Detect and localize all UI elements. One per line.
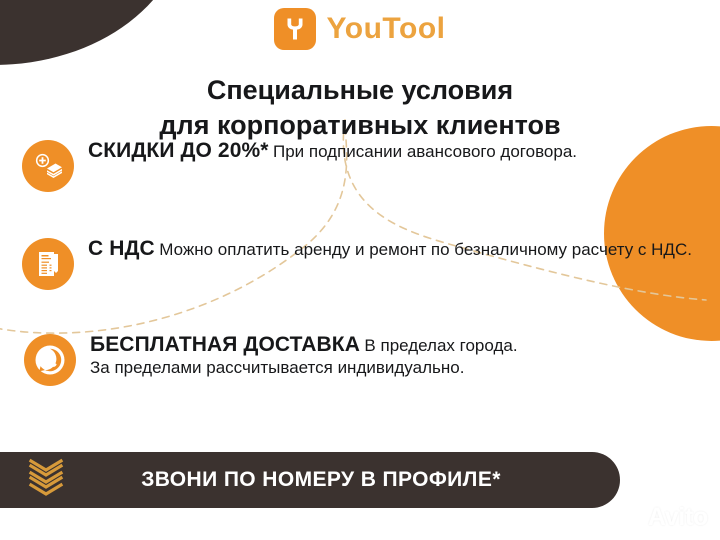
brand-name: YouTool	[326, 12, 445, 46]
benefit-discounts-text: СКИДКИ ДО 20%* При подписании авансового…	[88, 138, 577, 163]
avito-dots-icon	[621, 504, 643, 531]
benefit-vat-text: С НДС Можно оплатить аренду и ремонт по …	[88, 236, 692, 261]
decorative-orange-circle	[604, 126, 720, 341]
youtool-wrench-icon	[274, 8, 316, 50]
avito-watermark: Avito	[621, 503, 708, 532]
headline-line-1: Специальные условия	[207, 75, 513, 105]
benefit-line: по безналичному расчету с НДС.	[431, 240, 692, 259]
triple-chevron-down-icon	[26, 457, 66, 504]
benefit-vat: С НДС Можно оплатить аренду и ремонт по …	[22, 236, 692, 290]
cta-label: ЗВОНИ ПО НОМЕРУ В ПРОФИЛЕ*	[66, 468, 620, 492]
benefit-title: С НДС	[88, 237, 155, 260]
benefit-title: БЕСПЛАТНАЯ ДОСТАВКА	[90, 333, 360, 356]
call-to-action-bar[interactable]: ЗВОНИ ПО НОМЕРУ В ПРОФИЛЕ*	[0, 452, 620, 508]
benefit-line: За пределами рассчитывается индивидуальн…	[90, 358, 464, 377]
invoice-document-icon	[22, 238, 74, 290]
benefit-discounts: СКИДКИ ДО 20%* При подписании авансового…	[22, 138, 577, 192]
promo-banner: YouTool Специальные условия для корпорат…	[0, 0, 720, 540]
benefit-delivery: БЕСПЛАТНАЯ ДОСТАВКА В пределах города. З…	[24, 332, 720, 386]
page-title: Специальные условия для корпоративных кл…	[0, 73, 720, 143]
avito-wordmark: Avito	[648, 503, 708, 532]
benefit-line: При подписании авансового договора.	[273, 142, 577, 161]
benefit-delivery-text: БЕСПЛАТНАЯ ДОСТАВКА В пределах города. З…	[90, 332, 720, 378]
money-stack-plus-icon	[22, 140, 74, 192]
brand-logo: YouTool	[0, 8, 720, 50]
benefit-line: В пределах города.	[364, 336, 517, 355]
whatsapp-phone-icon	[24, 334, 76, 386]
benefit-title: СКИДКИ ДО 20%*	[88, 139, 269, 162]
benefit-line: Можно оплатить аренду и ремонт	[159, 240, 426, 259]
